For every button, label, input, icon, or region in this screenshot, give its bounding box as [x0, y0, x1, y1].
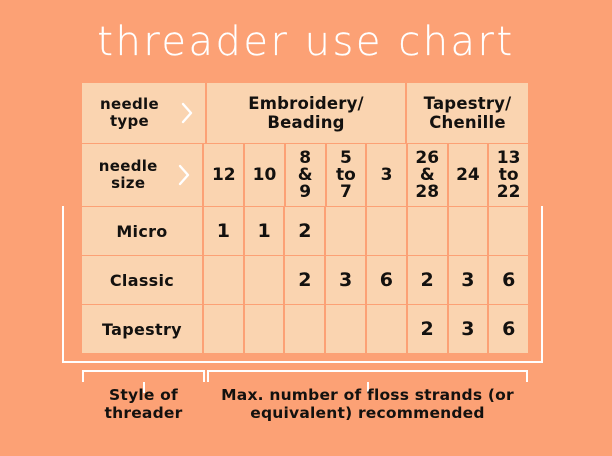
needle-size-value: to — [336, 167, 356, 184]
cell-tapestry-1 — [204, 305, 243, 353]
needle-size-label-line2: size — [99, 175, 158, 192]
needle-size-value: & — [298, 167, 313, 184]
needle-type-header-cell: needle type — [82, 83, 205, 143]
column-group-tapestry-chenille: Tapestry/ Chenille — [407, 83, 528, 143]
cell-micro-1: 1 — [204, 207, 243, 255]
footer-caption-line1: Style of — [68, 386, 219, 404]
cell-micro-5 — [367, 207, 406, 255]
needle-size-value: 9 — [298, 184, 313, 201]
needle-size-cell-2: 10 — [245, 144, 284, 206]
threader-table: needle type Embroidery/ Beading Tapestry… — [82, 83, 528, 358]
cell-micro-7 — [449, 207, 488, 255]
needle-size-header-cell: needle size — [82, 144, 202, 206]
footer-bracket-max-strands — [207, 370, 528, 382]
cell-micro-2: 1 — [245, 207, 284, 255]
cell-classic-5: 6 — [367, 256, 406, 304]
needle-size-value: to — [497, 167, 521, 184]
cell-micro-8 — [489, 207, 528, 255]
needle-size-value: & — [415, 167, 439, 184]
cell-micro-6 — [408, 207, 447, 255]
footer-caption-line1: Max. number of floss strands (or — [205, 386, 530, 404]
needle-size-value: 7 — [336, 184, 356, 201]
row-label-classic: Classic — [82, 256, 202, 304]
needle-size-label-line1: needle — [99, 158, 158, 175]
cell-tapestry-2 — [245, 305, 284, 353]
group-tapestry-line2: Chenille — [429, 113, 506, 132]
needle-size-value: 5 — [336, 150, 356, 167]
cell-tapestry-4 — [326, 305, 365, 353]
group-embroidery-line2: Beading — [267, 113, 344, 132]
needle-size-value: 10 — [253, 167, 277, 184]
footer-caption-style-of-threader: Style of threader — [68, 386, 219, 422]
needle-size-value: 12 — [212, 167, 236, 184]
footer-bracket-style-of-threader — [82, 370, 205, 382]
footer-caption-max-strands: Max. number of floss strands (or equival… — [205, 386, 530, 422]
needle-size-value: 13 — [497, 150, 521, 167]
chevron-right-icon — [181, 102, 194, 124]
cell-classic-8: 6 — [489, 256, 528, 304]
needle-size-value: 24 — [456, 167, 480, 184]
cell-classic-7: 3 — [449, 256, 488, 304]
page-title: threader use chart — [0, 18, 612, 66]
needle-size-cell-8: 13 to 22 — [489, 144, 528, 206]
footer-caption-line2: equivalent) recommended — [205, 404, 530, 422]
needle-size-value: 26 — [415, 150, 439, 167]
table-row-tapestry: Tapestry 2 3 6 — [82, 305, 528, 353]
cell-tapestry-3 — [285, 305, 324, 353]
cell-tapestry-7: 3 — [449, 305, 488, 353]
footer-caption-line2: threader — [68, 404, 219, 422]
cell-tapestry-5 — [367, 305, 406, 353]
needle-size-cell-1: 12 — [204, 144, 243, 206]
needle-size-value: 22 — [497, 184, 521, 201]
row-label-tapestry: Tapestry — [82, 305, 202, 353]
needle-size-cell-7: 24 — [449, 144, 488, 206]
table-row-needle-size: needle size 12 10 8 & 9 — [82, 144, 528, 206]
cell-classic-3: 2 — [285, 256, 324, 304]
cell-tapestry-6: 2 — [408, 305, 447, 353]
chevron-right-icon — [178, 164, 191, 186]
needle-type-label-line2: type — [100, 113, 159, 130]
needle-type-label-line1: needle — [100, 96, 159, 113]
cell-classic-2 — [245, 256, 284, 304]
table-row-classic: Classic 2 3 6 2 3 6 — [82, 256, 528, 304]
needle-size-value: 8 — [298, 150, 313, 167]
table-row-micro: Micro 1 1 2 — [82, 207, 528, 255]
threader-use-chart-page: threader use chart needle type Embroider… — [0, 0, 612, 456]
cell-classic-6: 2 — [408, 256, 447, 304]
column-group-embroidery-beading: Embroidery/ Beading — [207, 83, 405, 143]
needle-size-value: 28 — [415, 184, 439, 201]
table-row-needle-type: needle type Embroidery/ Beading Tapestry… — [82, 83, 528, 143]
group-tapestry-line1: Tapestry/ — [424, 94, 512, 113]
cell-classic-1 — [204, 256, 243, 304]
needle-size-value: 3 — [381, 167, 393, 184]
needle-size-cell-3: 8 & 9 — [286, 144, 325, 206]
cell-classic-4: 3 — [326, 256, 365, 304]
needle-size-cell-6: 26 & 28 — [408, 144, 447, 206]
cell-micro-4 — [326, 207, 365, 255]
cell-micro-3: 2 — [285, 207, 324, 255]
needle-size-cell-4: 5 to 7 — [327, 144, 366, 206]
group-embroidery-line1: Embroidery/ — [248, 94, 364, 113]
needle-size-cell-5: 3 — [367, 144, 406, 206]
row-label-micro: Micro — [82, 207, 202, 255]
cell-tapestry-8: 6 — [489, 305, 528, 353]
